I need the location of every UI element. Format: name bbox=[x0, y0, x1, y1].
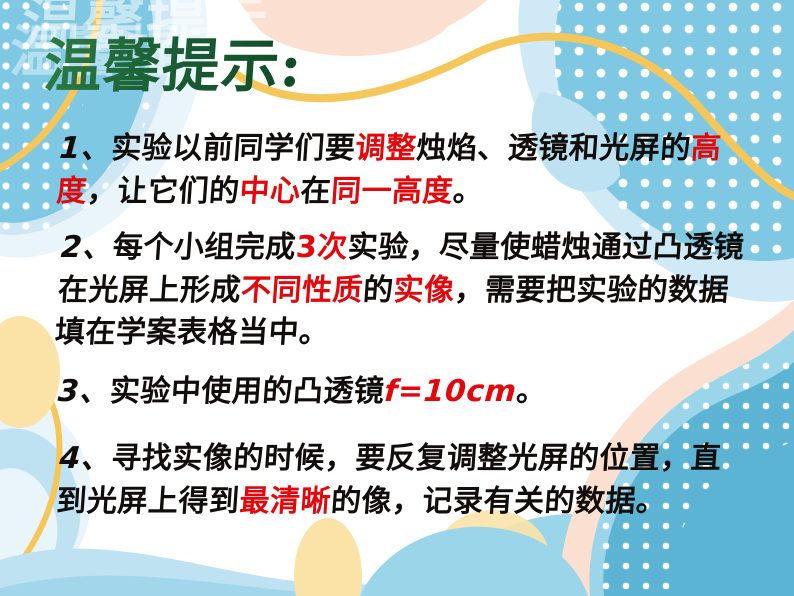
tip-highlight: f=10cm bbox=[383, 374, 517, 409]
tip-item-1: 1、实验以前同学们要调整烛焰、透镜和光屏的高度，让它们的中心在同一高度。 bbox=[55, 128, 751, 213]
tip-highlight: 实像 bbox=[392, 273, 455, 308]
tip-number: 2、 bbox=[60, 230, 114, 265]
tip-item-3: 3、实验中使用的凸透镜f=10cm。 bbox=[57, 371, 750, 414]
tip-number: 4、 bbox=[58, 441, 112, 476]
tip-item-2: 2、每个小组完成3次实验，尽量使蜡烛通过凸透镜在光屏上形成不同性质的实像，需要把… bbox=[54, 227, 753, 355]
tip-text: 实验中使用的凸透镜 bbox=[109, 374, 386, 409]
tip-text: 。 bbox=[452, 174, 485, 209]
tip-highlight: 同一高度 bbox=[330, 174, 454, 209]
tip-number: 1、 bbox=[58, 131, 112, 166]
page-title: 温馨提示: bbox=[42, 36, 305, 97]
tip-text: 的像，记录有关的数据。 bbox=[330, 483, 668, 518]
slide-canvas: 温馨提示 温馨提示 温馨提示: 1、实验以前同学们要调整烛焰、透镜和光屏的高度，… bbox=[0, 0, 794, 596]
tip-text: 。 bbox=[515, 374, 548, 409]
tip-text: 实验以前同学们要 bbox=[110, 131, 356, 166]
slide-content: 温馨提示 温馨提示 温馨提示: 1、实验以前同学们要调整烛焰、透镜和光屏的高度，… bbox=[0, 0, 794, 596]
tip-item-4: 4、寻找实像的时候，要反复调整光屏的位置，直到光屏上得到最清晰的像，记录有关的数… bbox=[55, 438, 751, 523]
tip-highlight: 最清晰 bbox=[238, 483, 332, 518]
tip-text: 在 bbox=[299, 174, 332, 209]
tip-text: 烛焰、透镜和光屏的 bbox=[415, 131, 692, 166]
tip-number: 3、 bbox=[57, 374, 111, 409]
tip-highlight: 3次 bbox=[295, 230, 349, 265]
tips-list: 1、实验以前同学们要调整烛焰、透镜和光屏的高度，让它们的中心在同一高度。 2、每… bbox=[58, 128, 748, 537]
tip-text: 每个小组完成 bbox=[112, 230, 297, 265]
tip-highlight: 不同性质 bbox=[240, 273, 364, 308]
tip-highlight: 中心 bbox=[238, 174, 301, 209]
tip-text: ，让它们的 bbox=[86, 174, 241, 209]
tip-highlight: 调整 bbox=[354, 131, 417, 166]
tip-text: 的 bbox=[362, 273, 395, 308]
